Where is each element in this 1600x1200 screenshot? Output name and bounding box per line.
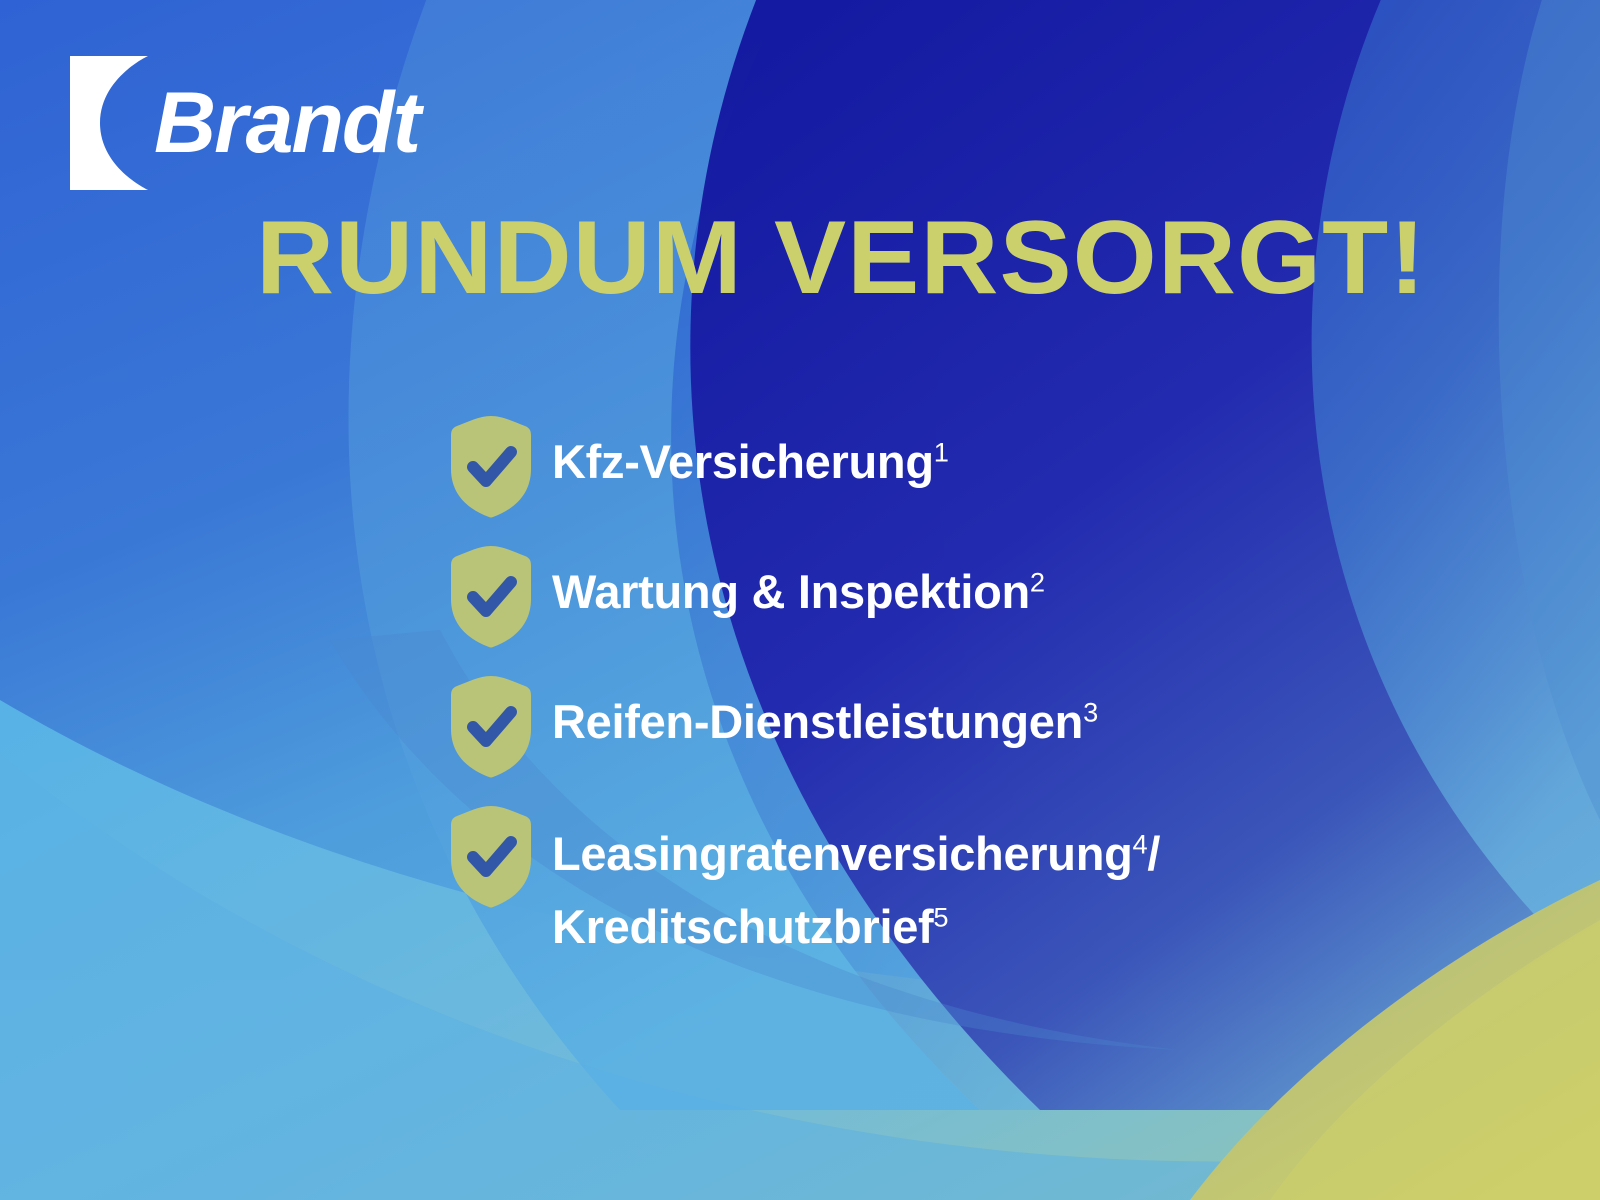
- shield-check-icon: [448, 804, 534, 910]
- page-title: RUNDUM VERSORGT!: [256, 204, 1426, 313]
- feature-label-text-2: Kreditschutzbrief: [552, 900, 933, 953]
- feature-footnote-2: 5: [933, 901, 948, 932]
- feature-label-text: Kfz-Versicherung: [552, 435, 934, 488]
- feature-label: Wartung & Inspektion2: [552, 542, 1045, 626]
- shield-check-svg: [448, 544, 534, 650]
- feature-label-text: Wartung & Inspektion: [552, 565, 1030, 618]
- feature-separator: /: [1147, 827, 1160, 880]
- feature-list: Kfz-Versicherung1 Wartung & Inspektion2: [448, 412, 1508, 1020]
- brandt-bracket-mark: [70, 56, 148, 190]
- shield-check-svg: [448, 414, 534, 520]
- bracket-mark-svg: [70, 56, 148, 190]
- feature-label-text: Reifen-Dienstleistungen: [552, 695, 1083, 748]
- feature-label-text: Leasingratenversicherung: [552, 827, 1133, 880]
- shield-check-icon: [448, 674, 534, 780]
- list-item: Kfz-Versicherung1: [448, 412, 1508, 524]
- list-item: Wartung & Inspektion2: [448, 542, 1508, 654]
- shield-check-svg: [448, 674, 534, 780]
- feature-footnote: 4: [1133, 828, 1148, 859]
- brand-wordmark: Brandt: [154, 80, 419, 166]
- feature-label: Kfz-Versicherung1: [552, 412, 949, 496]
- feature-footnote: 2: [1030, 566, 1045, 597]
- poster-canvas: Brandt RUNDUM VERSORGT! Kfz-Versicherung…: [0, 0, 1600, 1200]
- shield-check-svg: [448, 804, 534, 910]
- list-item: Leasingratenversicherung4/ Kreditschutzb…: [448, 802, 1508, 1002]
- shield-check-icon: [448, 414, 534, 520]
- feature-footnote: 1: [934, 436, 949, 467]
- shield-check-icon: [448, 544, 534, 650]
- list-item: Reifen-Dienstleistungen3: [448, 672, 1508, 784]
- feature-label: Reifen-Dienstleistungen3: [552, 672, 1098, 756]
- feature-label: Leasingratenversicherung4/ Kreditschutzb…: [552, 802, 1160, 964]
- feature-footnote: 3: [1083, 696, 1098, 727]
- brand-logo: Brandt: [70, 52, 419, 194]
